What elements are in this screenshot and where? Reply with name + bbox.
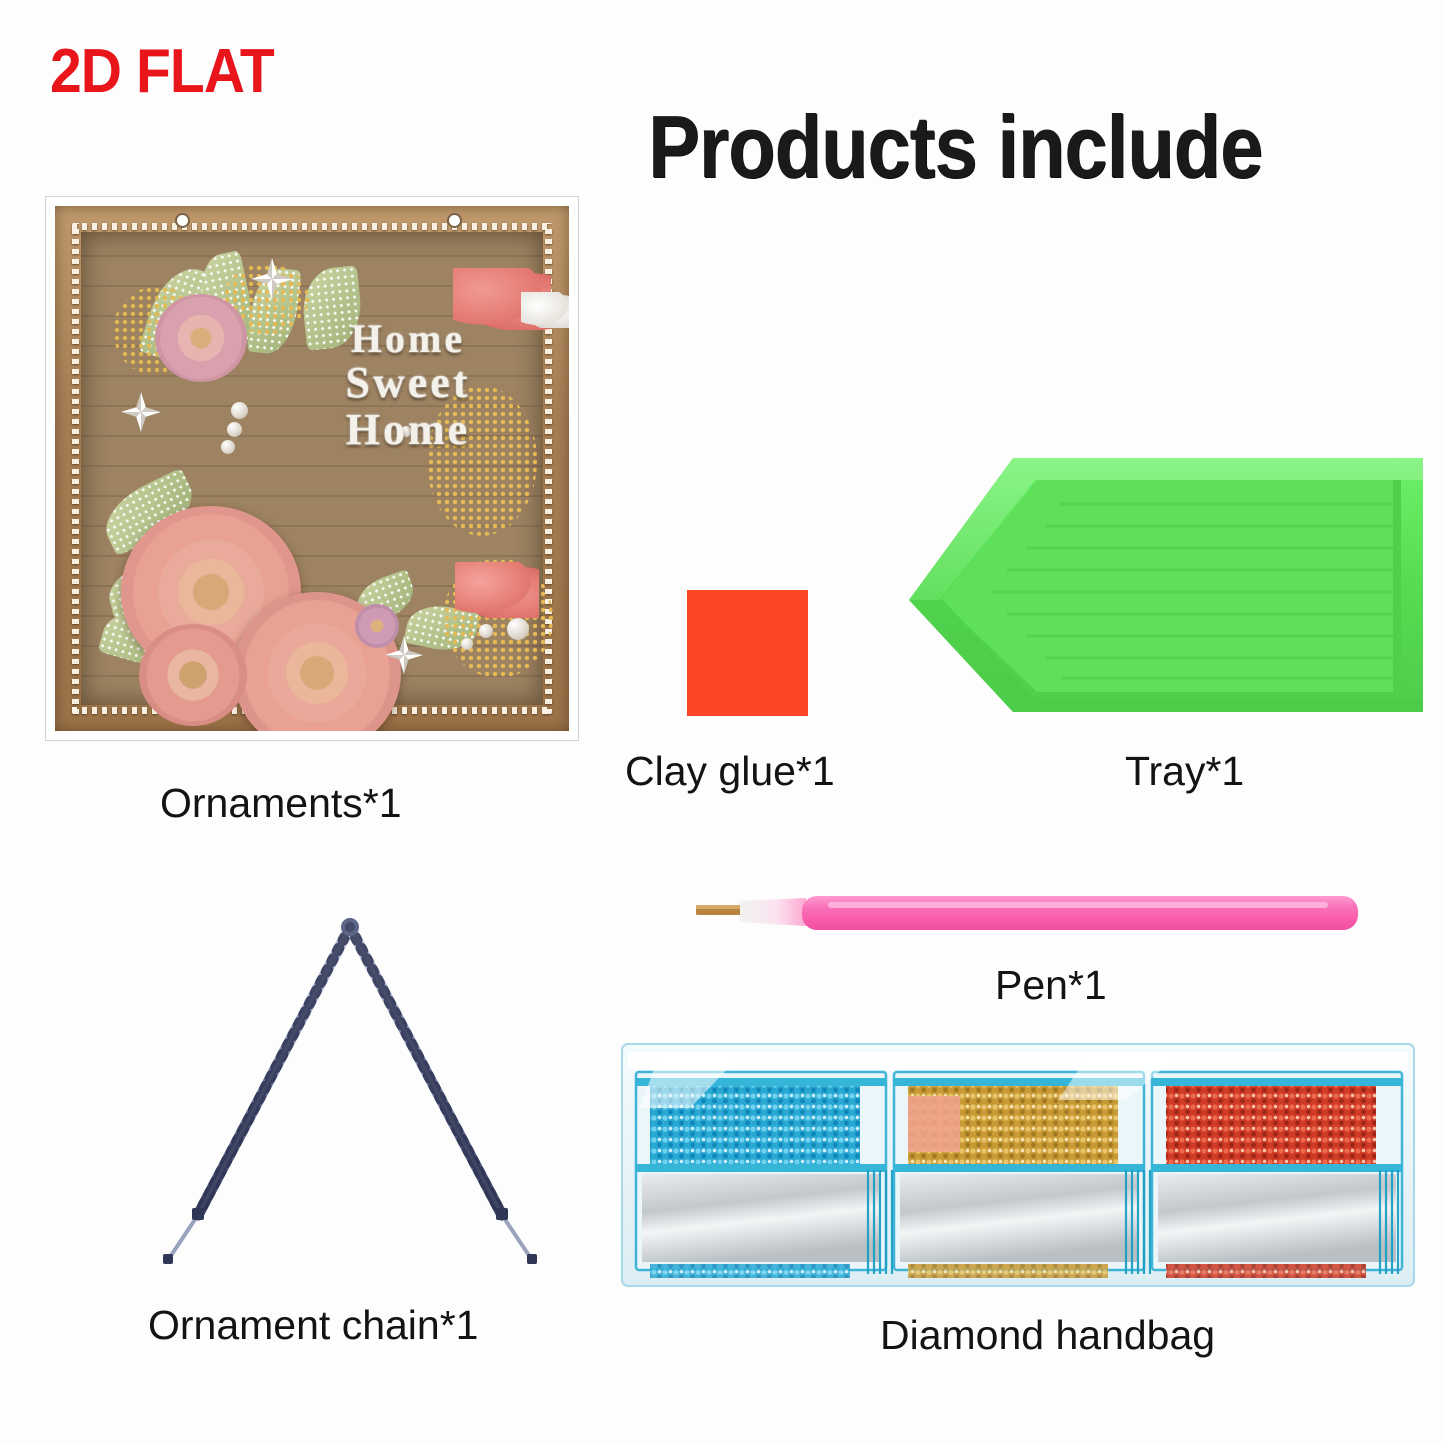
page-title: Products include bbox=[648, 96, 1262, 198]
ornaments-caption: Ornaments*1 bbox=[160, 780, 402, 827]
flower-decoration bbox=[155, 294, 247, 382]
tray-caption: Tray*1 bbox=[1125, 748, 1244, 795]
diamond-handbag-image bbox=[618, 1038, 1418, 1293]
pearl-decoration bbox=[461, 638, 473, 650]
pearl-decoration bbox=[221, 440, 235, 454]
artwork-title-line3: Home bbox=[283, 407, 533, 454]
ornaments-image: Home Sweet Home bbox=[45, 196, 579, 741]
pearl-decoration bbox=[227, 422, 242, 437]
hanging-hole-left bbox=[175, 213, 190, 228]
pen-image bbox=[680, 890, 1370, 938]
hanging-hole-right bbox=[447, 213, 462, 228]
drill-tray-icon bbox=[895, 450, 1435, 732]
clay-glue-square-icon bbox=[685, 588, 810, 718]
ornament-chain-caption: Ornament chain*1 bbox=[148, 1302, 478, 1349]
artwork-title-line2: Sweet bbox=[283, 360, 533, 407]
drill-pen-icon bbox=[680, 890, 1370, 938]
pearl-decoration bbox=[231, 402, 248, 419]
artwork-title: Home Sweet Home bbox=[283, 318, 533, 454]
pearl-decoration bbox=[479, 624, 493, 638]
clay-glue-image bbox=[685, 588, 810, 718]
hanging-chain-icon bbox=[140, 905, 560, 1275]
flower-decoration bbox=[139, 624, 247, 726]
tray-image bbox=[895, 450, 1435, 732]
flat-badge: 2D FLAT bbox=[50, 36, 274, 107]
diamond-handbag-caption: Diamond handbag bbox=[880, 1312, 1215, 1359]
butterfly-decoration bbox=[455, 562, 539, 618]
framed-diamond-painting-icon: Home Sweet Home bbox=[55, 206, 569, 731]
pearl-decoration bbox=[507, 618, 529, 640]
clay-glue-caption: Clay glue*1 bbox=[625, 748, 835, 795]
flower-decoration bbox=[355, 604, 399, 648]
artwork-title-line1: Home bbox=[283, 318, 533, 360]
bead-bags-icon bbox=[618, 1038, 1418, 1293]
pen-caption: Pen*1 bbox=[995, 962, 1107, 1009]
ornament-chain-image bbox=[140, 905, 560, 1275]
